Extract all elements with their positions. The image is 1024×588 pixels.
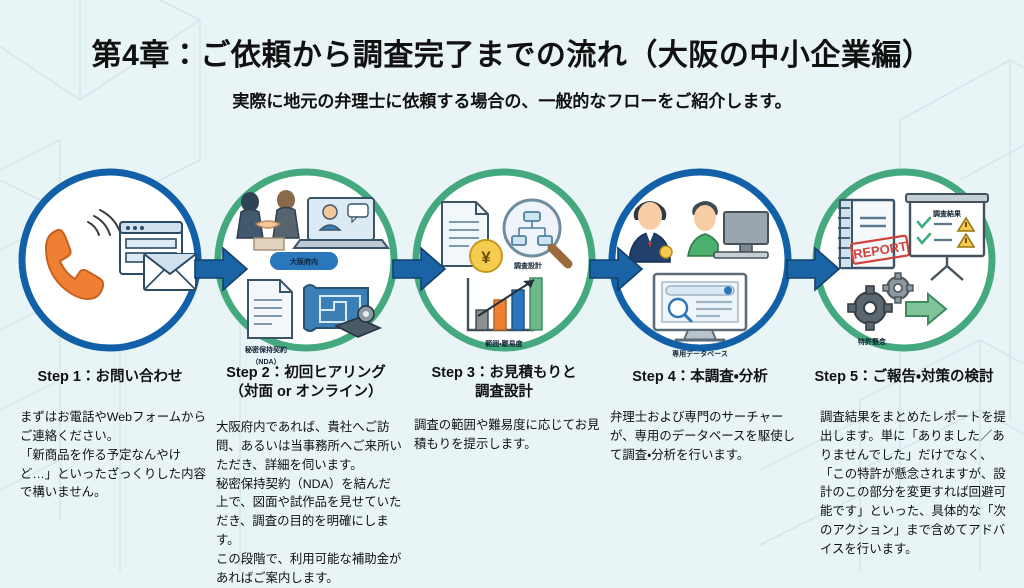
- laptop-video-call-icon: [294, 198, 388, 248]
- database-caption: 専用データベース: [672, 349, 728, 358]
- osaka-area-badge-label: 大阪府内: [290, 257, 318, 266]
- process-flow-steps: Step 1：お問い合わせ まずはお電話やWebフォームからご連絡ください。「新…: [0, 160, 1024, 572]
- step-5-title: Step 5：ご報告・対策の検討: [800, 368, 1008, 387]
- step-card-2[interactable]: 大阪府内: [208, 160, 404, 572]
- blueprint-prototype-icon: [304, 285, 380, 337]
- survey-design-caption: 調査設計: [514, 261, 542, 270]
- scope-difficulty-caption: 範囲・難易度: [485, 339, 523, 348]
- email-envelope-icon: [144, 254, 196, 290]
- step-card-4[interactable]: 専用データベース Step 4：本調査・分析 弁理士および専門のサーチャーが、専…: [602, 160, 798, 572]
- page-subtitle: 実際に地元の弁理士に依頼する場合の、一般的なフローをご紹介します。: [0, 87, 1024, 112]
- arrow-step3-to-step4: [588, 246, 644, 292]
- step-4-body: 弁理士および専門のサーチャーが、専用のデータベースを駆使して調査・分析を行います…: [610, 408, 796, 465]
- step-3-body: 調査の範囲や難易度に応じてお見積もりを提示します。: [414, 416, 600, 454]
- step-2-body: 大阪府内であれば、貴社へご訪問、あるいは当事務所へご来所いただき、詳細を伺います…: [216, 418, 402, 588]
- step-1-illustration: [12, 160, 208, 370]
- step-5-body: 調査結果をまとめたレポートを提出します。単に「ありました／ありませんでした」だけ…: [820, 408, 1008, 559]
- step-card-3[interactable]: ¥ 調査設計: [406, 160, 602, 572]
- arrow-step2-to-step3: [391, 246, 447, 292]
- step-3-title: Step 3：お見積もりと調査設計: [400, 364, 608, 402]
- arrow-step1-to-step2: [193, 246, 249, 292]
- arrow-step4-to-step5: [785, 246, 841, 292]
- osaka-area-badge: 大阪府内: [270, 252, 338, 270]
- yen-symbol: ¥: [481, 248, 491, 267]
- patent-concern-caption: 特許懸念: [858, 337, 886, 346]
- step-2-title: Step 2：初回ヒアリング（対面 or オンライン）: [202, 364, 410, 402]
- step-4-title: Step 4：本調査・分析: [596, 368, 804, 387]
- step-card-5[interactable]: REPORT 調査結果: [806, 160, 1002, 572]
- step-1-body: まずはお電話やWebフォームからご連絡ください。「新商品を作る予定なんやけど…」…: [20, 408, 206, 502]
- step-card-1[interactable]: Step 1：お問い合わせ まずはお電話やWebフォームからご連絡ください。「新…: [12, 160, 208, 572]
- step-1-title: Step 1：お問い合わせ: [6, 368, 214, 387]
- nda-document-icon: [248, 280, 292, 338]
- nda-caption-line1: 秘密保持契約: [245, 345, 287, 354]
- page-title: 第4章：ご依頼から調査完了までの流れ（大阪の中小企業編）: [0, 30, 1024, 74]
- database-monitor-icon: [654, 274, 746, 340]
- survey-result-caption: 調査結果: [933, 209, 961, 218]
